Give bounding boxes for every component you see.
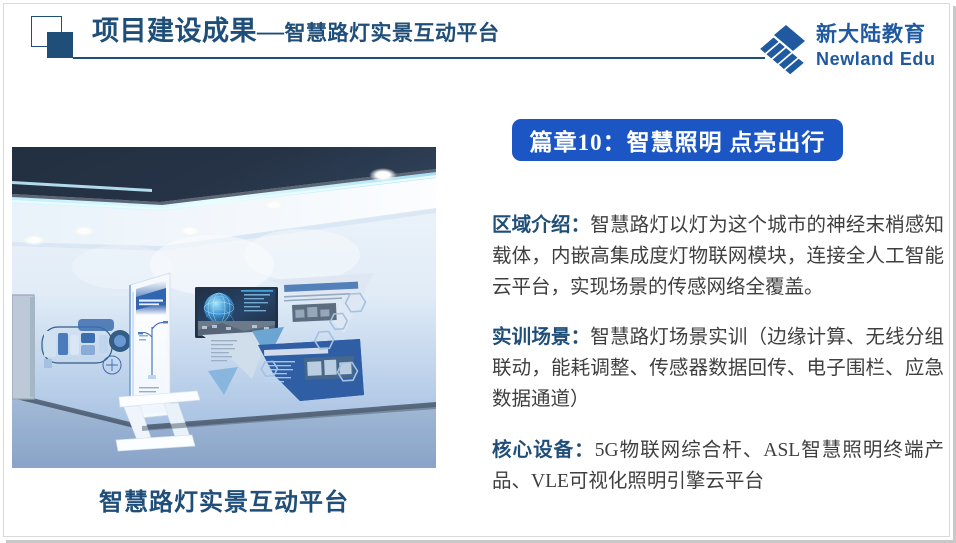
header-divider-line <box>73 57 765 59</box>
paragraph-label-training-scenario: 实训场景： <box>492 327 590 348</box>
chapter-banner: 篇章10：智慧照明 点亮出行 <box>512 119 843 161</box>
brand-logo-text: 新大陆教育 Newland Edu <box>816 22 936 71</box>
paragraph-core-equipment: 核心设备：5G物联网综合杆、ASL智慧照明终端产品、VLE可视化照明引擎云平台 <box>492 435 944 497</box>
newland-diamond-icon <box>760 24 812 76</box>
description-panel: 区域介绍：智慧路灯以灯为这个城市的神经末梢感知载体，内嵌高集成度灯物联网模块，连… <box>492 190 944 497</box>
brand-logo: 新大陆教育 Newland Edu <box>760 22 935 78</box>
paragraph-label-core-equipment: 核心设备： <box>492 440 595 461</box>
page-title-sub: 智慧路灯实景互动平台 <box>285 21 500 45</box>
exhibition-hall-photo <box>12 147 436 468</box>
page-title: 项目建设成果—智慧路灯实景互动平台 <box>92 18 500 45</box>
slide-canvas: 项目建设成果—智慧路灯实景互动平台 新大陆教育 Newland Edu <box>0 0 956 543</box>
decorative-square-filled <box>47 32 73 58</box>
page-title-main: 项目建设成果— <box>92 16 285 46</box>
paragraph-label-area-intro: 区域介绍： <box>492 215 590 236</box>
brand-name-en: Newland Edu <box>816 47 936 71</box>
exhibition-hall-photo-image <box>12 147 436 468</box>
paragraph-training-scenario: 实训场景：智慧路灯场景实训（边缘计算、无线分组联动，能耗调整、传感器数据回传、电… <box>492 322 944 415</box>
slide-header: 项目建设成果—智慧路灯实景互动平台 新大陆教育 Newland Edu <box>0 0 956 95</box>
photo-caption: 智慧路灯实景互动平台 <box>12 482 436 517</box>
brand-name-cn: 新大陆教育 <box>816 22 936 47</box>
paragraph-area-intro: 区域介绍：智慧路灯以灯为这个城市的神经末梢感知载体，内嵌高集成度灯物联网模块，连… <box>492 210 944 303</box>
chapter-banner-label: 篇章10：智慧照明 点亮出行 <box>530 123 826 157</box>
